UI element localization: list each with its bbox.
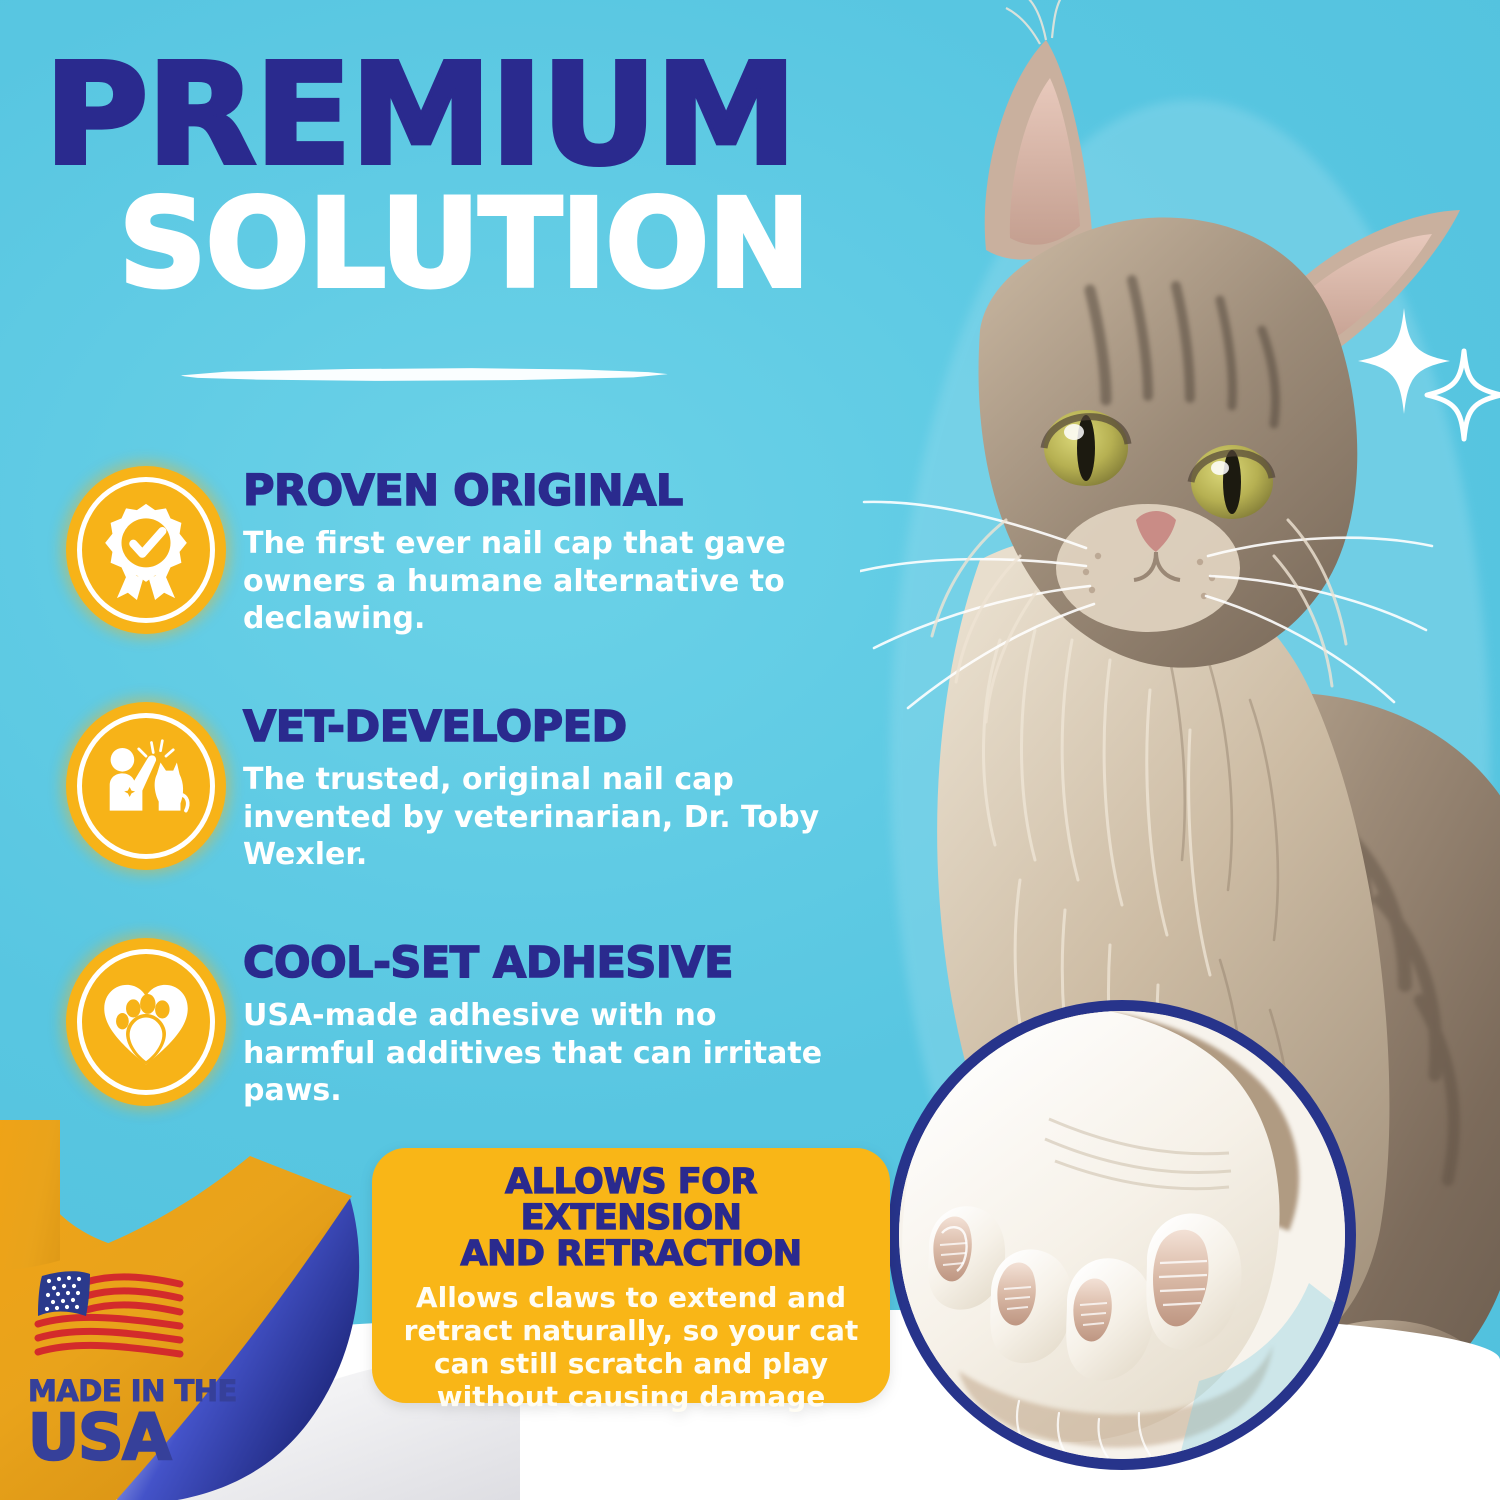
feature-title: COOL-SET ADHESIVE [243,942,858,985]
feature-body: The first ever nail cap that gave owners… [243,525,843,638]
feature-item-proven-original: PROVEN ORIGINAL The first ever nail cap … [58,458,858,638]
usa-flag-icon [28,1268,188,1360]
callout-title-line2: AND RETRACTION [390,1236,872,1272]
callout-title-line1: ALLOWS FOR EXTENSION [390,1164,872,1236]
extension-retraction-callout: ALLOWS FOR EXTENSION AND RETRACTION Allo… [372,1148,890,1403]
award-ribbon-check-icon [58,458,233,638]
sparkle-four-point-outline-icon [1424,348,1500,447]
heart-paw-icon [58,930,233,1110]
page-title: PREMIUM SOLUTION [44,52,884,303]
feature-item-vet-developed: VET-DEVELOPED The trusted, original nail… [58,694,858,874]
feature-title: VET-DEVELOPED [243,706,858,749]
headline-line-premium: PREMIUM [44,52,901,181]
feature-body: USA-made adhesive with no harmful additi… [243,997,843,1110]
feature-body: The trusted, original nail cap invented … [243,761,843,874]
feature-list: PROVEN ORIGINAL The first ever nail cap … [58,458,858,1166]
feature-title: PROVEN ORIGINAL [243,470,858,513]
vet-high-five-cat-icon [58,694,233,874]
cat-paw-closeup-inset [888,1000,1356,1470]
callout-body: Allows claws to extend and retract natur… [390,1281,872,1413]
infographic-canvas: PREMIUM SOLUTION PROVEN ORIGINAL The fir… [0,0,1500,1500]
usa-badge-line2: USA [28,1406,258,1469]
white-lens-divider [178,362,668,384]
headline-line-solution: SOLUTION [44,187,884,303]
made-in-usa-badge: MADE IN THE USA [28,1268,258,1469]
feature-item-cool-set-adhesive: COOL-SET ADHESIVE USA-made adhesive with… [58,930,858,1110]
